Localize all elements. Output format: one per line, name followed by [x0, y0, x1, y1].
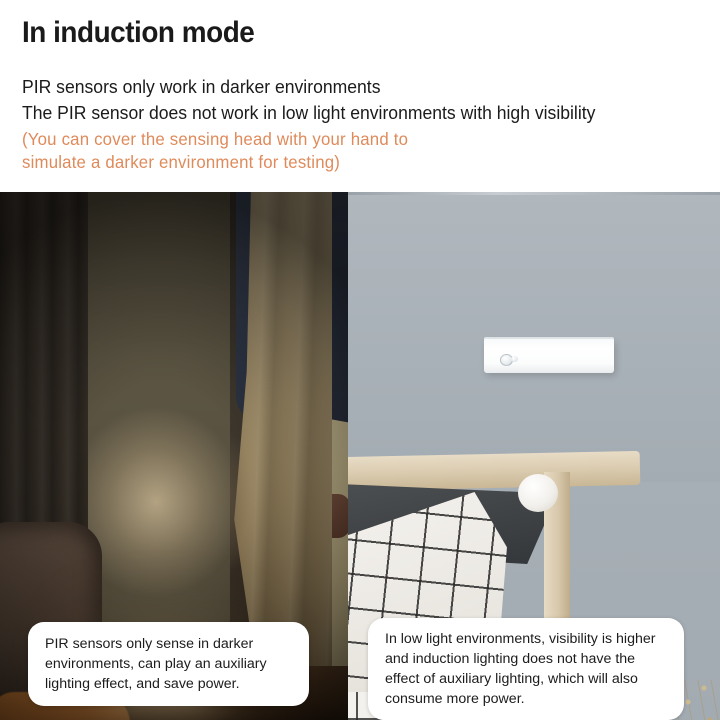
caption-left: PIR sensors only sense in darker environ…: [28, 622, 309, 706]
pom-pom: [518, 474, 558, 512]
tip-note-line-2: simulate a darker environment for testin…: [22, 152, 340, 173]
product-feature-panel: In induction mode PIR sensors only work …: [0, 0, 720, 720]
wall-light-glow: [88, 407, 230, 637]
feature-line-2: The PIR sensor does not work in low ligh…: [22, 102, 595, 124]
pir-sensor-lens-icon: [511, 356, 518, 362]
page-title: In induction mode: [22, 16, 254, 50]
tip-note-line-1: (You can cover the sensing head with you…: [22, 129, 408, 150]
ceiling-line: [348, 192, 720, 195]
feature-line-1: PIR sensors only work in darker environm…: [22, 76, 380, 98]
bed-headboard-rail: [348, 451, 640, 491]
caption-right: In low light environments, visibility is…: [368, 618, 684, 720]
header-text-block: In induction mode PIR sensors only work …: [0, 0, 720, 192]
